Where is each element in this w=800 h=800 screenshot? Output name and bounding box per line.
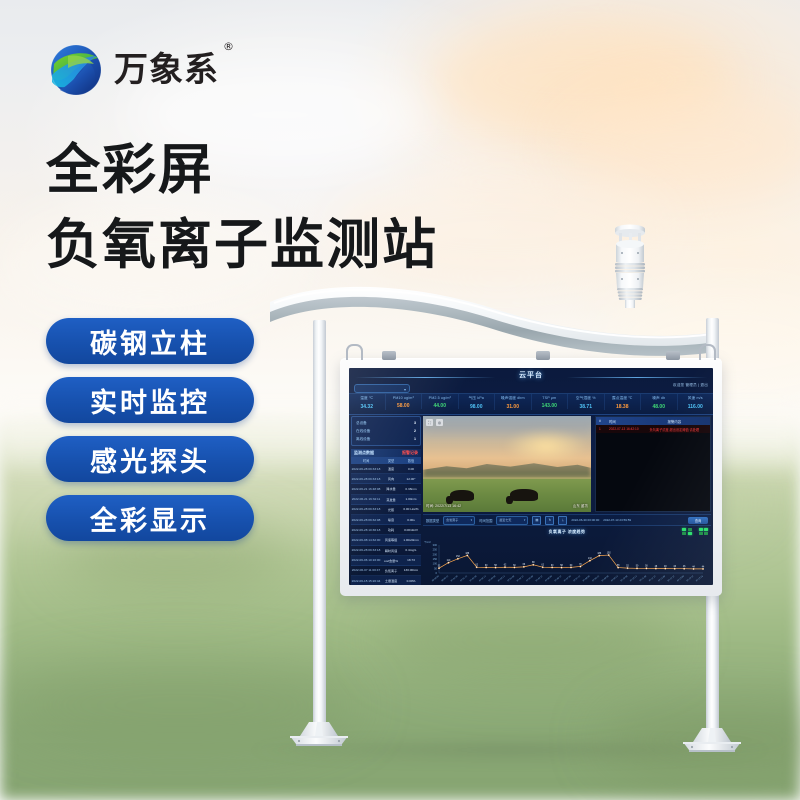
chart-x-tick: 07-01 12 <box>460 575 468 582</box>
chart-x-tick: 07-05 12 <box>536 575 544 582</box>
registered-mark: ® <box>223 41 235 52</box>
stat-value: 1 <box>414 435 416 443</box>
record-value: 130.00/cm <box>401 568 421 572</box>
led-indicator <box>704 532 708 535</box>
chart-y-label: 个/cm³ <box>424 540 431 544</box>
metric-value: 48.00 <box>641 404 677 410</box>
full-color-display-screen[interactable]: 云平台 ▾ 欢迎您 管理员 | 退出 温度 ℃ 34.32 PM10 ug/m³… <box>349 368 713 585</box>
data-type-select[interactable]: 负氧离子 ▾ <box>443 516 475 525</box>
records-column-headers: 时间 类型 数值 <box>351 457 421 464</box>
record-type: 噪音 <box>381 517 401 522</box>
record-time: 2022-06-08 14:32:00 <box>351 538 381 542</box>
video-toolbar[interactable]: ⛶ ◎ <box>426 419 443 426</box>
table-row[interactable]: 2022-06-28 09:33:18风向12.00° <box>351 474 421 484</box>
chart-x-tick: 07-10 00 <box>620 575 628 582</box>
dashboard-header: 云平台 <box>349 368 713 384</box>
query-button[interactable]: 查询 <box>688 517 708 524</box>
stat-label: 离线设备 <box>356 435 370 443</box>
globe-swirl-logo-icon <box>48 42 104 98</box>
record-type: 负氧离子 <box>381 568 401 573</box>
alarm-row[interactable]: 1 2022-07-13 16:42:10 负氧离子浓度 超出设定阈值 请处理 <box>596 425 710 433</box>
metric-card: 气压 kPa 98.00 <box>459 394 496 410</box>
record-value: 12.00° <box>401 477 421 481</box>
trend-line-chart[interactable]: 050100150200250300个/cm³5206-30 0011006-3… <box>423 537 711 585</box>
chart-y-tick: 200 <box>433 552 438 556</box>
chart-x-tick: 07-06 00 <box>545 575 553 582</box>
headline-line-2: 负氧离子监测站 <box>46 200 438 279</box>
stat-label: 在线设备 <box>356 427 370 435</box>
carbon-steel-column-left <box>313 320 326 726</box>
metric-value: 143.00 <box>532 403 568 409</box>
chart-x-tick: 07-02 12 <box>479 575 487 582</box>
record-type: 蒸发量 <box>381 497 401 502</box>
feature-pill-4[interactable]: 全彩显示 <box>46 495 254 541</box>
metric-value: 38.71 <box>568 404 604 410</box>
record-type: 降水量 <box>381 486 401 491</box>
record-type: 风速等级 <box>381 537 401 542</box>
metric-value: 44.00 <box>422 403 458 409</box>
record-value: 1.00s/0mm <box>401 538 421 542</box>
metric-value: 31.00 <box>495 404 531 410</box>
led-indicator <box>699 532 703 535</box>
refresh-icon[interactable]: ↻ <box>545 516 554 525</box>
record-time: 2022-06-21 16:48:08 <box>351 487 381 491</box>
chart-data-point[interactable] <box>485 567 487 569</box>
base-plate-right-icon <box>675 728 749 754</box>
chart-x-tick: 07-09 00 <box>602 575 610 582</box>
chart-x-tick: 07-07 12 <box>573 575 581 582</box>
metric-label: 气压 kPa <box>459 396 495 401</box>
metric-card: 露点温度 ℃ 18.38 <box>605 394 642 410</box>
mount-bracket-icon <box>666 351 680 360</box>
alarm-col-time: 时间 <box>609 419 642 424</box>
time-range-select[interactable]: 最近七天 ▾ <box>496 516 528 525</box>
table-row[interactable]: 2022-06-28 09:33:18温度0.00 <box>351 464 421 474</box>
chart-data-point[interactable] <box>532 564 534 566</box>
metric-value: 116.00 <box>678 404 714 410</box>
chart-data-point[interactable] <box>466 555 468 557</box>
trend-chart-panel: 负氧离子 浓度趋势 050100150200250300个/cm³5206-30… <box>423 528 711 583</box>
chart-x-tick: 07-04 12 <box>517 575 525 582</box>
record-type: 土壤温度 <box>381 578 401 583</box>
chart-data-point[interactable] <box>561 567 563 569</box>
led-indicator <box>688 528 692 531</box>
brand-name: 万象系 ® <box>114 53 219 87</box>
chart-x-tick: 07-10 12 <box>630 575 638 582</box>
chart-x-tick: 07-02 00 <box>470 575 478 582</box>
led-indicator <box>682 532 686 535</box>
chart-x-tick: 07-11 00 <box>639 575 647 582</box>
chart-x-tick: 07-05 00 <box>526 575 534 582</box>
chart-point-label: 188 <box>465 553 470 555</box>
chart-data-point[interactable] <box>495 567 497 569</box>
station-select[interactable]: ▾ <box>354 384 410 393</box>
chart-control-bar: 数据类型 负氧离子 ▾ 时间范围 最近七天 ▾ ▦ ↻ ⤓ 2022-06-30… <box>423 514 711 526</box>
record-time: 2022-06-28 09:33:18 <box>351 548 381 552</box>
chart-y-tick: 150 <box>433 557 438 561</box>
chart-data-point[interactable] <box>589 560 591 562</box>
alert-records-link[interactable]: 报警记录 <box>402 450 418 456</box>
chart-data-point[interactable] <box>617 567 619 569</box>
chart-point-label: 44 <box>692 566 695 568</box>
chart-x-tick: 07-11 12 <box>649 575 657 582</box>
alarm-time: 2022-07-13 16:42:10 <box>609 427 642 431</box>
metric-strip: 温度 ℃ 34.32 PM10 ug/m³ 58.00 PM2.5 ug/m³ … <box>349 393 713 415</box>
chart-point-label: 60 <box>513 565 516 567</box>
records-header: 监测点数据 报警记录 <box>351 449 421 457</box>
records-table-body: 2022-06-28 09:33:18温度0.002022-06-28 09:3… <box>351 464 421 585</box>
led-row <box>699 528 709 531</box>
chart-point-label: 62 <box>541 565 544 567</box>
chart-point-label: 60 <box>551 565 554 567</box>
metric-value: 34.32 <box>349 404 385 410</box>
metric-value: 58.00 <box>386 403 422 409</box>
chart-data-point[interactable] <box>438 567 440 569</box>
stat-row: 在线设备 2 <box>356 427 416 435</box>
time-range-value: 最近七天 <box>499 518 511 522</box>
metric-card: PM2.5 ug/m³ 44.00 <box>422 394 459 409</box>
metric-card: TSP μm 143.00 <box>532 394 569 409</box>
chart-point-label: 88 <box>532 562 535 564</box>
chart-x-tick: 07-09 12 <box>611 575 619 582</box>
capture-icon[interactable]: ⛶ <box>426 419 433 426</box>
record-time: 2022-06-28 10:36:18 <box>351 528 381 532</box>
chart-data-point[interactable] <box>636 568 638 570</box>
metric-label: PM10 ug/m³ <box>386 396 422 400</box>
time-range-label: 时间范围 <box>479 518 492 523</box>
stat-row: 总设备 3 <box>356 419 416 427</box>
video-treeline <box>423 458 591 477</box>
alarm-col-text: 报警内容 <box>642 419 707 424</box>
poster-canvas: 万象系 ® 全彩屏 负氧离子监测站 碳钢立柱 实时监控 感光探头 全彩显示 <box>0 0 800 800</box>
chart-x-tick: 07-06 12 <box>554 575 562 582</box>
snapshot-icon[interactable]: ◎ <box>436 419 443 426</box>
dashboard-title: 云平台 <box>349 370 713 380</box>
chart-data-point[interactable] <box>457 558 459 560</box>
chart-data-point[interactable] <box>693 568 695 570</box>
metric-card: 温度 ℃ 34.32 <box>349 394 386 410</box>
chart-x-tick: 07-03 12 <box>498 575 506 582</box>
chart-point-label: 46 <box>683 566 686 568</box>
record-time: 2022-06-06 10:16:00 <box>351 558 381 562</box>
record-value: 0.0011kV² <box>401 528 421 532</box>
chart-point-label: 192 <box>607 552 612 554</box>
records-title: 监测点数据 <box>354 450 374 456</box>
chart-x-tick: 07-04 00 <box>507 575 515 582</box>
video-watermark: 山东 潍坊 <box>573 504 588 509</box>
led-row <box>682 528 692 531</box>
alarm-col-index: # <box>599 419 609 423</box>
chart-point-label: 58 <box>494 565 497 567</box>
chart-point-label: 186 <box>597 553 602 555</box>
chart-point-label: 48 <box>655 566 658 568</box>
chart-point-label: 66 <box>523 564 526 566</box>
record-type: co2含量% <box>381 558 401 563</box>
column-header-type: 类型 <box>381 458 401 463</box>
video-cattle <box>510 489 538 501</box>
brand-name-text: 万象系 <box>114 50 219 90</box>
chart-x-tick: 06-30 00 <box>432 575 440 582</box>
record-time: 2022-06-28 09:32:08 <box>351 518 381 522</box>
led-group <box>682 528 692 535</box>
table-row[interactable]: 2022-06-28 09:33:18光照0.00 Lks/% <box>351 505 421 515</box>
stat-value: 3 <box>414 419 416 427</box>
record-type: 功耗 <box>381 527 401 532</box>
record-time: 2022-06-15 15:20:44 <box>351 579 381 583</box>
record-value: 0.38mm <box>401 487 421 491</box>
chart-point-label: 52 <box>626 566 629 568</box>
metric-label: 露点温度 ℃ <box>605 396 641 401</box>
chart-x-tick: 07-13 23 <box>696 575 704 582</box>
status-led-matrix <box>682 528 708 535</box>
chart-data-point[interactable] <box>664 568 666 570</box>
table-row[interactable]: 2022-06-06 10:16:00co2含量%18.73 <box>351 556 421 566</box>
record-time: 2022-06-28 09:33:18 <box>351 467 381 471</box>
export-icon[interactable]: ⤓ <box>558 516 567 525</box>
chart-y-tick: 300 <box>433 543 438 547</box>
chart-data-point[interactable] <box>514 567 516 569</box>
chart-point-label: 48 <box>664 566 667 568</box>
record-value: 0.4mg/L <box>401 548 421 552</box>
record-value: 0.00% <box>401 579 421 583</box>
chart-data-point[interactable] <box>655 568 657 570</box>
chart-data-point[interactable] <box>523 566 525 568</box>
chart-data-point[interactable] <box>504 566 506 568</box>
mount-bracket-icon <box>536 351 550 360</box>
data-type-label: 数据类型 <box>426 518 439 523</box>
metric-label: 温度 ℃ <box>349 396 385 401</box>
chart-data-point[interactable] <box>674 568 676 570</box>
chart-point-label: 58 <box>560 565 563 567</box>
metric-card: 噪声强度 dbm 31.00 <box>495 394 532 410</box>
metric-value: 18.38 <box>605 404 641 410</box>
column-header-value: 数值 <box>401 458 421 463</box>
led-row <box>682 532 692 535</box>
mount-hook-left-icon <box>346 344 363 360</box>
metric-card: 噪声 db 48.00 <box>641 394 678 410</box>
chart-point-label: 62 <box>504 565 507 567</box>
metric-label: TSP μm <box>532 396 568 400</box>
chart-data-point[interactable] <box>570 567 572 569</box>
chart-x-tick: 07-13 00 <box>677 575 685 582</box>
headline-line-1: 全彩屏 <box>46 125 214 204</box>
record-time: 2022-06-28 09:33:18 <box>351 507 381 511</box>
metric-label: 风速 m/s <box>678 396 714 401</box>
stat-row: 离线设备 1 <box>356 435 416 443</box>
cloud-shape <box>560 90 800 200</box>
record-time: 2022-06-28 09:33:18 <box>351 477 381 481</box>
chart-data-point[interactable] <box>580 566 582 568</box>
left-panel: 总设备 3 在线设备 2 离线设备 1 监测点数据 报警记录 时间 类型 <box>351 416 421 583</box>
table-row[interactable]: 2022-06-07 11:00:47负氧离子130.00/cm <box>351 566 421 576</box>
chart-point-label: 50 <box>636 566 639 568</box>
brand-logo: 万象系 ® <box>48 42 219 98</box>
record-value: 18.73 <box>401 558 421 562</box>
table-row[interactable]: 2022-06-21 16:32:11蒸发量1.00m/s <box>351 495 421 505</box>
led-group <box>699 528 709 535</box>
chevron-down-icon: ▾ <box>471 518 473 522</box>
metric-label: 噪声强度 dbm <box>495 396 531 401</box>
feature-pill-list: 碳钢立柱 实时监控 感光探头 全彩显示 <box>46 318 254 541</box>
chart-point-label: 44 <box>702 566 705 568</box>
alarm-column-headers: # 时间 报警内容 <box>596 417 710 425</box>
field-texture <box>380 600 680 680</box>
live-video-feed[interactable]: ⛶ ◎ 时间: 2022/7/13 16:42 山东 潍坊 <box>423 416 591 512</box>
chart-data-point[interactable] <box>646 568 648 570</box>
chart-data-point[interactable] <box>448 562 450 564</box>
metric-label: PM2.5 ug/m³ <box>422 396 458 400</box>
chart-data-point[interactable] <box>542 566 544 568</box>
record-type: 瞬时风速 <box>381 548 401 553</box>
chart-x-tick: 07-08 12 <box>592 575 600 582</box>
base-plate-left-icon <box>282 722 356 748</box>
device-stats-box: 总设备 3 在线设备 2 离线设备 1 <box>351 416 421 446</box>
table-row[interactable]: 2022-06-15 15:20:44土壤温度0.00% <box>351 576 421 585</box>
chart-point-label: 46 <box>673 566 676 568</box>
chart-point-label: 62 <box>475 565 478 567</box>
video-sun-glow <box>504 429 588 463</box>
feature-pill-1[interactable]: 碳钢立柱 <box>46 318 254 364</box>
record-value: 0.00s <box>401 518 421 522</box>
chart-data-point[interactable] <box>627 567 629 569</box>
chart-x-tick: 07-03 00 <box>488 575 496 582</box>
ultrasonic-weather-sensor-icon <box>604 222 656 308</box>
led-indicator <box>688 532 692 535</box>
metric-card: PM10 ug/m³ 58.00 <box>386 394 423 409</box>
alarm-log-panel[interactable]: # 时间 报警内容 1 2022-07-13 16:42:10 负氧离子浓度 超… <box>595 416 711 512</box>
mount-hook-right-icon <box>699 344 716 360</box>
calendar-icon[interactable]: ▦ <box>532 516 541 525</box>
mount-bracket-icon <box>382 351 396 360</box>
chart-data-point[interactable] <box>683 568 685 570</box>
led-indicator <box>699 528 703 531</box>
chart-data-point[interactable] <box>608 554 610 556</box>
record-type: 风向 <box>381 476 401 481</box>
chart-y-tick: 0 <box>436 571 438 575</box>
table-row[interactable]: 2022-06-21 16:48:08降水量0.38mm <box>351 484 421 494</box>
chart-data-point[interactable] <box>598 555 600 557</box>
chart-x-tick: 06-30 12 <box>441 575 449 582</box>
chart-y-tick: 250 <box>433 548 438 552</box>
chart-x-tick: 07-01 00 <box>451 575 459 582</box>
chevron-down-icon: ▾ <box>404 387 406 392</box>
chart-x-tick: 07-12 00 <box>658 575 666 582</box>
table-row[interactable]: 2022-06-08 14:32:00风速等级1.00s/0mm <box>351 535 421 545</box>
data-type-value: 负氧离子 <box>446 518 458 522</box>
stat-label: 总设备 <box>356 419 367 427</box>
video-cattle <box>450 490 474 501</box>
chart-x-tick: 07-07 00 <box>564 575 572 582</box>
metric-card: 风速 m/s 116.00 <box>678 394 714 410</box>
feature-pill-2[interactable]: 实时监控 <box>46 377 254 423</box>
chart-point-label: 50 <box>645 566 648 568</box>
record-time: 2022-06-07 11:00:47 <box>351 568 381 572</box>
feature-pill-3[interactable]: 感光探头 <box>46 436 254 482</box>
chart-data-point[interactable] <box>476 566 478 568</box>
video-timestamp: 时间: 2022/7/13 16:42 <box>426 504 461 509</box>
chart-point-label: 58 <box>617 565 620 567</box>
chart-point-label: 60 <box>485 565 488 567</box>
led-indicator <box>704 528 708 531</box>
record-type: 温度 <box>381 466 401 471</box>
record-time: 2022-06-21 16:32:11 <box>351 497 381 501</box>
chart-x-tick: 07-13 12 <box>686 575 694 582</box>
alarm-index: 1 <box>599 427 609 431</box>
cloud-shape <box>430 20 730 140</box>
chart-point-label: 60 <box>570 565 573 567</box>
chart-x-tick: 07-12 12 <box>668 575 676 582</box>
chart-data-point[interactable] <box>551 567 553 569</box>
table-row[interactable]: 2022-06-28 09:33:18瞬时风速0.4mg/L <box>351 546 421 556</box>
stat-value: 2 <box>414 427 416 435</box>
column-header-time: 时间 <box>351 458 381 463</box>
chart-x-tick: 07-08 00 <box>583 575 591 582</box>
metric-value: 98.00 <box>459 404 495 410</box>
alarm-text: 负氧离子浓度 超出设定阈值 请处理 <box>642 427 707 432</box>
record-value: 0.00 Lks/% <box>401 507 421 511</box>
led-indicator <box>682 528 686 531</box>
header-rule-right <box>567 377 707 378</box>
chevron-down-icon: ▾ <box>524 518 526 522</box>
record-value: 1.00m/s <box>401 497 421 501</box>
end-date[interactable]: 2022-07-13 23:59:59 <box>603 518 631 522</box>
table-row[interactable]: 2022-06-28 09:32:08噪音0.00s <box>351 515 421 525</box>
record-type: 光照 <box>381 507 401 512</box>
start-date[interactable]: 2022-06-30 00:00:00 <box>571 518 599 522</box>
metric-label: 噪声 db <box>641 396 677 401</box>
led-row <box>699 532 709 535</box>
table-row[interactable]: 2022-06-28 10:36:18功耗0.0011kV² <box>351 525 421 535</box>
metric-label: 空气湿度 % <box>568 396 604 401</box>
metric-card: 空气湿度 % 38.71 <box>568 394 605 410</box>
chart-data-point[interactable] <box>702 568 704 570</box>
record-value: 0.00 <box>401 467 421 471</box>
chart-title: 负氧离子 浓度趋势 <box>423 529 711 535</box>
user-info[interactable]: 欢迎您 管理员 | 退出 <box>673 383 708 388</box>
